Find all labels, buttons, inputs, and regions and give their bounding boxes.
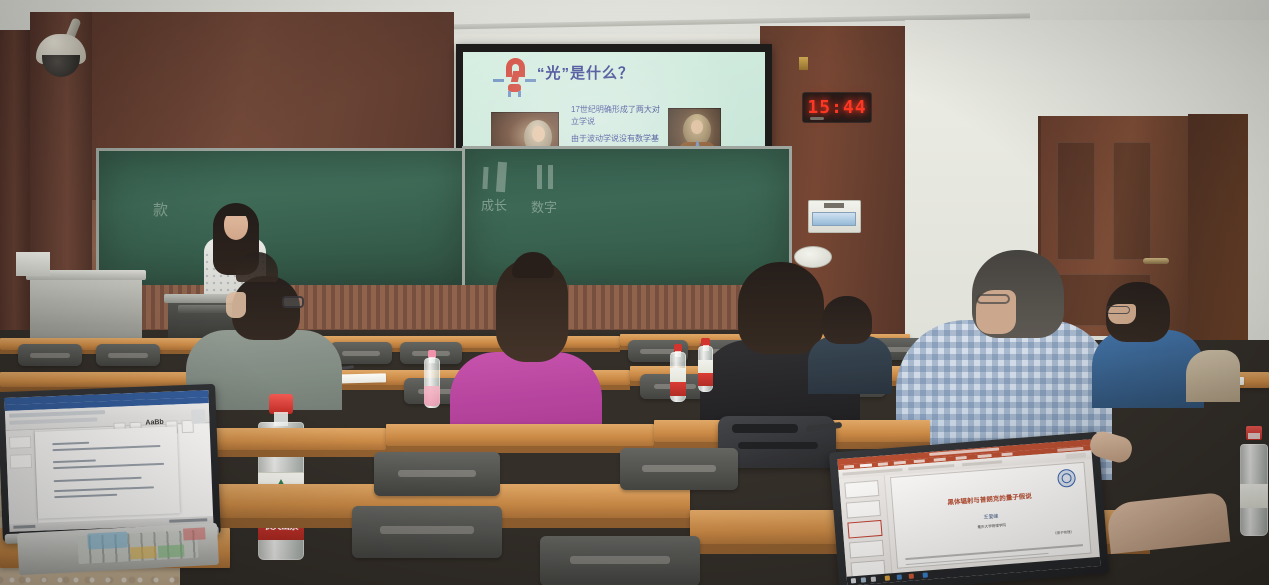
ppt-slide-thumbnails[interactable] (839, 476, 892, 577)
chair-d1[interactable] (352, 506, 502, 558)
electrical-panel-breakers (812, 212, 856, 226)
clock-time-display: 15:44 (807, 97, 866, 118)
chair-a2[interactable] (96, 344, 160, 366)
water-bottle-red-b[interactable] (698, 338, 713, 392)
presenter-fringe (222, 204, 250, 216)
water-bottle-far-right[interactable] (1240, 426, 1268, 536)
word-style-label: AaBb (145, 419, 164, 427)
chair-c2[interactable] (620, 448, 738, 490)
laptop-right-screen: 黑体辐射与普朗克的量子假说 王爱峰 重庆大学物理学院 《量子物理》 (837, 439, 1100, 585)
wall-plaque-oval (794, 246, 832, 268)
ppt-course-note: 《量子物理》 (1053, 529, 1074, 536)
blackboard-left: 款 (96, 148, 466, 288)
wood-panel-left (0, 30, 32, 330)
water-bottle-foreground[interactable]: 农夫山泉 (258, 394, 304, 560)
attendee-dark-blue-body (808, 336, 892, 394)
attendee-gray-shirt-ear (226, 292, 246, 318)
word-document-page[interactable] (34, 426, 180, 518)
wall-marker-small (799, 57, 808, 70)
chair-a1[interactable] (18, 344, 82, 366)
clock-indicator-led (810, 117, 824, 120)
classroom-scene: 15:44 “光”是什么？ (0, 0, 1269, 585)
attendee-beige-jacket (1186, 350, 1240, 402)
chalk-text-left: 款 (153, 199, 168, 220)
electrical-panel-label (824, 203, 844, 208)
laptop-right[interactable]: 黑体辐射与普朗克的量子假说 王爱峰 重庆大学物理学院 《量子物理》 (829, 432, 1109, 585)
slide-paragraph-1: 17世纪明确形成了两大对立学说 (571, 104, 663, 127)
chalk-text-right: 数字 (531, 197, 557, 216)
glasses-icon-gray-shirt (282, 296, 304, 308)
door-panel-left (1057, 142, 1095, 260)
ppt-active-slide[interactable]: 黑体辐射与普朗克的量子假说 王爱峰 重庆大学物理学院 《量子物理》 (890, 462, 1092, 569)
word-navigation-pane[interactable] (6, 430, 38, 524)
chalk-text-middle: 成长 (481, 195, 507, 214)
chair-c1[interactable] (374, 452, 500, 496)
ppt-slide-title: 黑体辐射与普朗克的量子假说 (904, 487, 1075, 510)
water-bottle-pink[interactable] (424, 350, 440, 408)
attendee-partial-head (236, 252, 278, 282)
av-console (30, 276, 142, 342)
attendee-dark-blue-head (822, 296, 872, 344)
slide-title: “光”是什么？ (537, 62, 634, 83)
university-seal-icon (1057, 469, 1076, 488)
door-frame-edge (1188, 114, 1248, 340)
attendee-hand (1106, 492, 1231, 554)
laptop-left[interactable]: AaBb (0, 384, 221, 542)
attendee-black-top-hair (738, 262, 824, 354)
question-mark-character-icon (500, 58, 530, 92)
glasses-icon-checked-shirt (976, 294, 1010, 304)
door-panel-right (1113, 142, 1151, 260)
laptop-left-screen: AaBb (4, 390, 213, 532)
desk-row-c-mid (386, 424, 654, 446)
door-handle[interactable] (1143, 258, 1169, 264)
chair-d2[interactable] (540, 536, 700, 585)
water-bottle-red-a[interactable] (670, 344, 686, 402)
glasses-icon-blue (1106, 306, 1130, 314)
av-equipment-box (16, 252, 50, 276)
